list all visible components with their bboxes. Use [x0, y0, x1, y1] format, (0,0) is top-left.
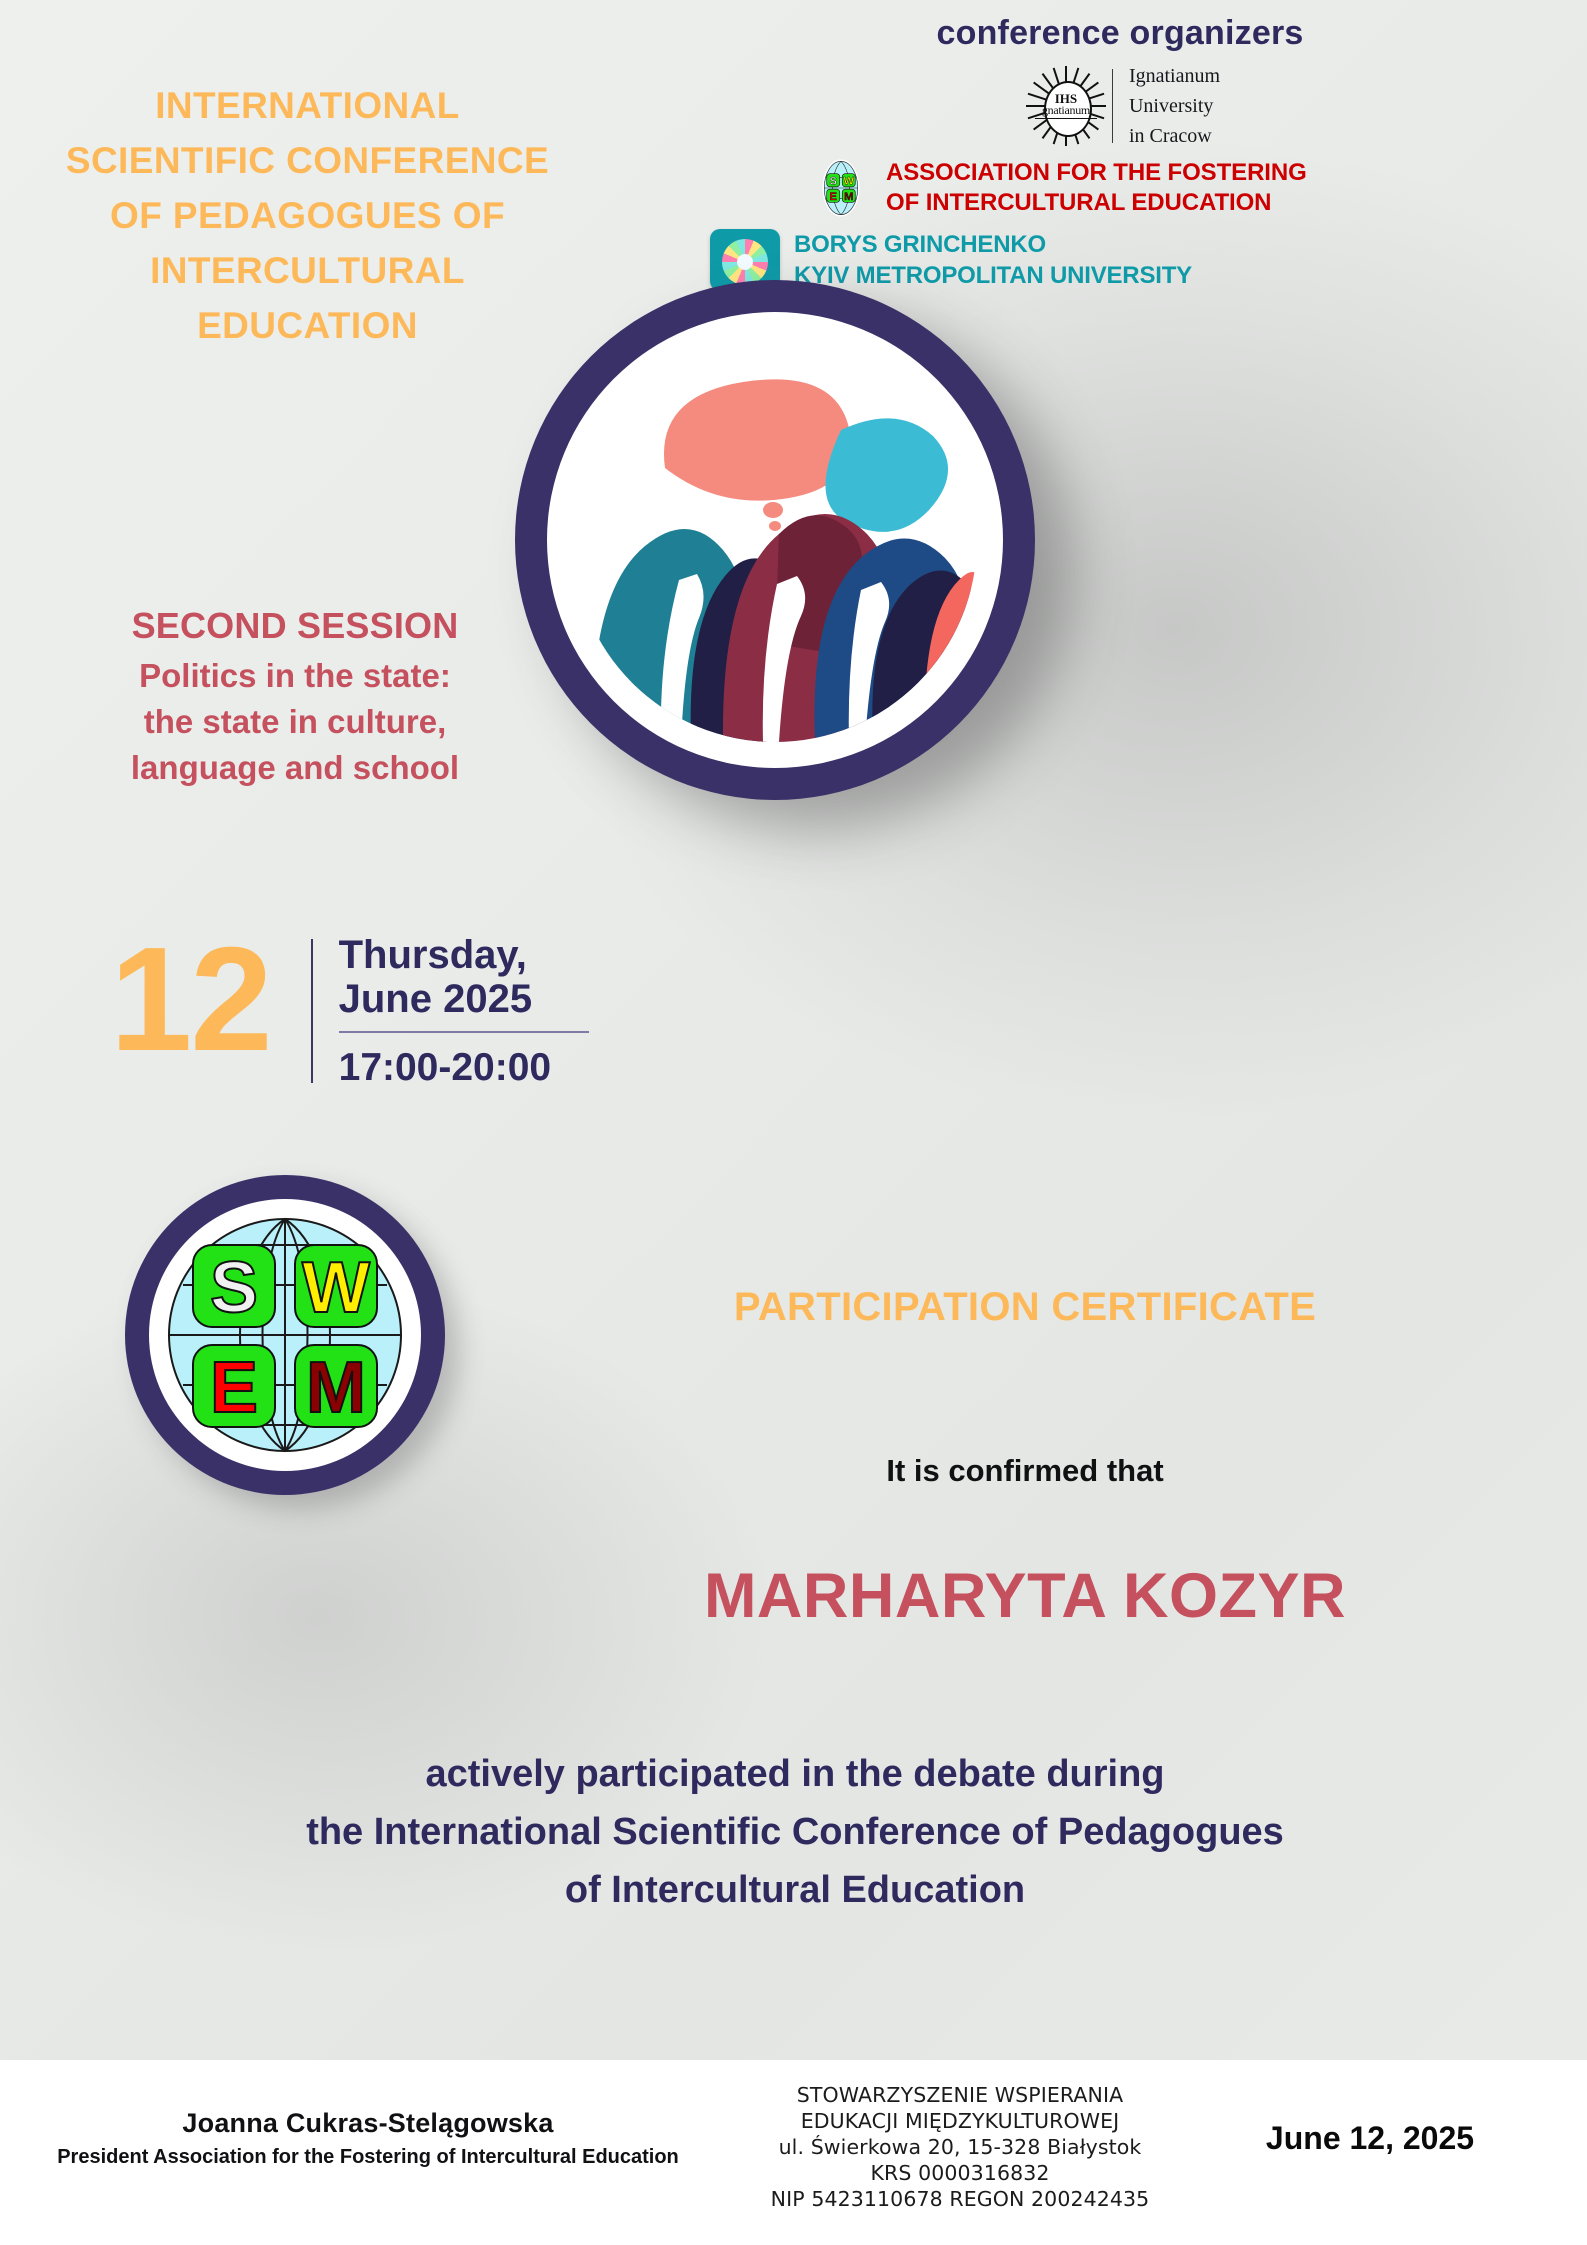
signature-block: Joanna Cukras-Stelągowska President Asso…: [48, 2108, 688, 2169]
certificate-page: INTERNATIONAL SCIENTIFIC CONFERENCE OF P…: [0, 0, 1587, 2245]
session-subtitle-line-2: the state in culture,: [45, 699, 545, 745]
ignatianum-crest-icon: IHS gnatianum: [1030, 65, 1102, 147]
svg-text:M: M: [306, 1348, 366, 1428]
diverse-heads-artwork: [573, 338, 977, 742]
conference-title-line-4: INTERCULTURAL: [45, 243, 570, 298]
ignatianum-word-text: gnatianum: [1035, 103, 1097, 119]
svg-text:E: E: [830, 191, 837, 203]
stamp-line-1: STOWARZYSZENIE WSPIERANIA: [760, 2082, 1160, 2108]
session-heading: SECOND SESSION: [45, 605, 545, 647]
organizer-association: S W E M ASSOCIATION FOR THE FOSTERING OF…: [810, 157, 1570, 219]
grinchenko-line-1: BORYS GRINCHENKO: [794, 229, 1192, 260]
organization-stamp: STOWARZYSZENIE WSPIERANIA EDUKACJI MIĘDZ…: [760, 2082, 1160, 2212]
ignatianum-line-3: in Cracow: [1129, 121, 1220, 151]
session-subtitle: Politics in the state: the state in cult…: [45, 653, 545, 791]
svg-text:M: M: [844, 191, 853, 203]
hours-text: 17:00-20:00: [339, 1047, 589, 1089]
conference-title: INTERNATIONAL SCIENTIFIC CONFERENCE OF P…: [45, 78, 570, 353]
weekday-text: Thursday,: [339, 933, 589, 977]
signatory-role: President Association for the Fostering …: [48, 2146, 688, 2169]
conference-title-line-1: INTERNATIONAL: [45, 78, 570, 133]
organizer-ignatianum: IHS gnatianum Ignatianum University in C…: [680, 61, 1570, 151]
recipient-name: MARHARYTA KOZYR: [520, 1560, 1530, 1632]
association-line-2: OF INTERCULTURAL EDUCATION: [886, 188, 1307, 218]
ignatianum-line-1: Ignatianum: [1129, 61, 1220, 91]
ignatianum-line-2: University: [1129, 91, 1220, 121]
day-number: 12: [110, 925, 271, 1089]
swem-globe-icon: S W E M: [149, 1199, 421, 1471]
certificate-body-line-3: of Intercultural Education: [90, 1861, 1500, 1919]
association-name: ASSOCIATION FOR THE FOSTERING OF INTERCU…: [886, 158, 1307, 218]
svg-text:W: W: [302, 1248, 370, 1328]
svg-text:E: E: [210, 1348, 258, 1428]
conference-title-line-2: SCIENTIFIC CONFERENCE: [45, 133, 570, 188]
swem-emblem: S W E M: [125, 1175, 445, 1495]
conference-title-line-5: EDUCATION: [45, 298, 570, 353]
date-vertical-rule: [311, 939, 313, 1083]
organizers-block: conference organizers IHS gnatianum Igna…: [690, 14, 1570, 291]
hero-inner-ring: [547, 312, 1003, 768]
certificate-confirm-text: It is confirmed that: [520, 1453, 1530, 1489]
session-block: SECOND SESSION Politics in the state: th…: [45, 605, 545, 791]
session-subtitle-line-3: language and school: [45, 745, 545, 791]
stamp-line-4: KRS 0000316832: [760, 2160, 1160, 2186]
swem-logo-icon: S W E M: [810, 157, 872, 219]
association-line-1: ASSOCIATION FOR THE FOSTERING: [886, 158, 1307, 188]
conference-title-line-3: OF PEDAGOGUES OF: [45, 188, 570, 243]
session-subtitle-line-1: Politics in the state:: [45, 653, 545, 699]
date-info: Thursday, June 2025 17:00-20:00: [339, 925, 589, 1089]
date-block: 12 Thursday, June 2025 17:00-20:00: [110, 925, 589, 1089]
swem-emblem-white-ring: S W E M: [149, 1199, 421, 1471]
svg-text:S: S: [210, 1248, 258, 1328]
grinchenko-name: BORYS GRINCHENKO KYIV METROPOLITAN UNIVE…: [794, 229, 1192, 291]
certificate-body-line-1: actively participated in the debate duri…: [90, 1745, 1500, 1803]
footer-bar: Joanna Cukras-Stelągowska President Asso…: [0, 2060, 1587, 2245]
ignatianum-name: Ignatianum University in Cracow: [1129, 61, 1220, 151]
organizers-heading: conference organizers: [670, 14, 1570, 53]
hero-artwork: [573, 338, 977, 742]
ignatianum-divider: [1112, 69, 1113, 143]
certificate-body: actively participated in the debate duri…: [90, 1745, 1500, 1919]
month-year-text: June 2025: [339, 977, 589, 1021]
hero-illustration: [515, 280, 1035, 800]
signatory-name: Joanna Cukras-Stelągowska: [48, 2108, 688, 2139]
stamp-line-5: NIP 5423110678 REGON 200242435: [760, 2186, 1160, 2212]
issue-date: June 12, 2025: [1180, 2120, 1560, 2157]
svg-text:W: W: [843, 175, 854, 187]
organizer-grinchenko: BORYS GRINCHENKO KYIV METROPOLITAN UNIVE…: [710, 229, 1570, 291]
stamp-line-2: EDUKACJI MIĘDZYKULTUROWEJ: [760, 2108, 1160, 2134]
date-horizontal-rule: [339, 1031, 589, 1033]
certificate-body-line-2: the International Scientific Conference …: [90, 1803, 1500, 1861]
stamp-line-3: ul. Świerkowa 20, 15-328 Białystok: [760, 2134, 1160, 2160]
grinchenko-line-2: KYIV METROPOLITAN UNIVERSITY: [794, 260, 1192, 291]
svg-text:S: S: [830, 175, 837, 187]
certificate-title: PARTICIPATION CERTIFICATE: [520, 1285, 1530, 1330]
